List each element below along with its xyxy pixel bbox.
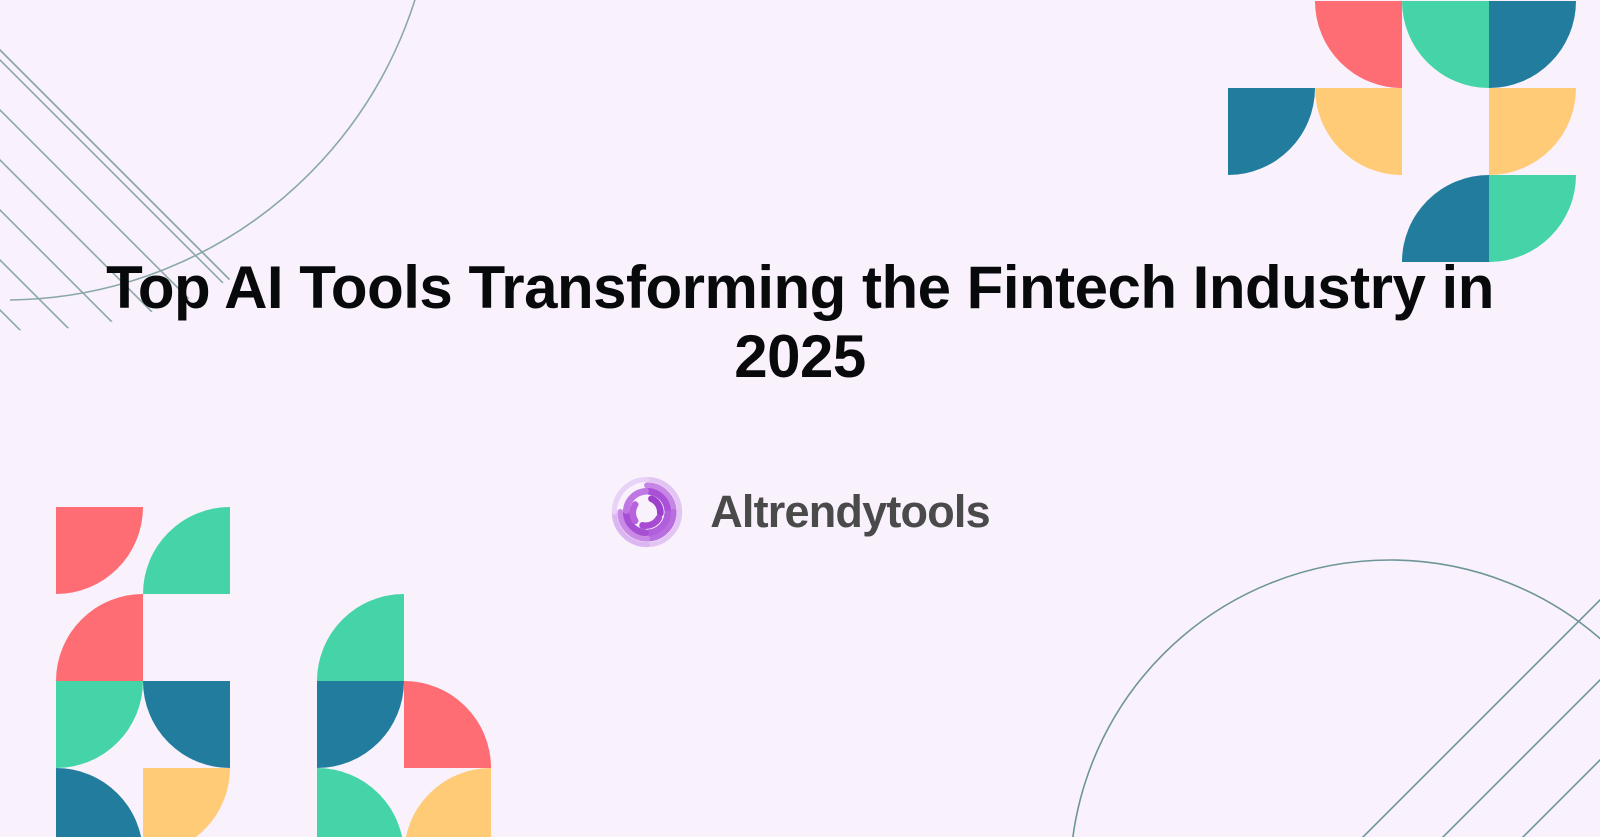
brand-name: Altrendytools (710, 489, 990, 534)
page-title: Top AI Tools Transforming the Fintech In… (80, 254, 1520, 391)
poster-canvas: Top AI Tools Transforming the Fintech In… (0, 0, 1600, 837)
purple-swirl-icon (610, 475, 684, 549)
poster-content: Top AI Tools Transforming the Fintech In… (0, 0, 1600, 837)
brand-lockup: Altrendytools (610, 475, 990, 549)
